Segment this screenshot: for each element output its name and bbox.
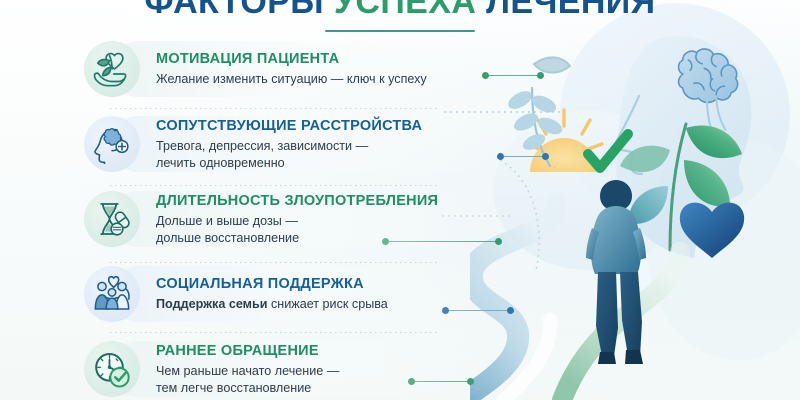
row-texts: СОПУТСТВУЮЩИЕ РАССТРОЙСТВА Тревога, депр…	[156, 117, 422, 171]
factor-subtitle-bold: лечить одновременно	[156, 155, 422, 172]
factors-list: МОТИВАЦИЯ ПАЦИЕНТА Желание изменить ситу…	[84, 38, 504, 400]
row-texts: РАННЕЕ ОБРАЩЕНИЕ Чем раньше начато лечен…	[156, 342, 339, 396]
factor-subtitle: Поддержка семьи снижает риск срыва	[156, 296, 388, 313]
title-underline	[325, 30, 475, 32]
row-texts: ДЛИТЕЛЬНОСТЬ ЗЛОУПОТРЕБЛЕНИЯ Дольше и вы…	[156, 192, 438, 246]
title-word-2: УСПЕХА	[334, 0, 476, 21]
factor-row-motivation[interactable]: МОТИВАЦИЯ ПАЦИЕНТА Желание изменить ситу…	[84, 38, 504, 100]
row-texts: СОЦИАЛЬНАЯ ПОДДЕРЖКА Поддержка семьи сни…	[156, 275, 388, 313]
factor-subtitle-text: Желание изменить ситуацию — ключ к успех…	[156, 72, 427, 86]
factor-subtitle: Желание изменить ситуацию — ключ к успех…	[156, 71, 427, 88]
hourglass-pills-icon	[84, 191, 140, 247]
title-word-1: ФАКТОРЫ	[145, 0, 324, 21]
factor-subtitle: Дольше и выше дозы —	[156, 213, 438, 230]
factor-title: МОТИВАЦИЯ ПАЦИЕНТА	[156, 50, 427, 68]
factor-subtitle: Чем раньше начато лечение —	[156, 363, 339, 380]
factor-title: РАННЕЕ ОБРАЩЕНИЕ	[156, 342, 339, 360]
connector-dot	[542, 153, 549, 160]
head-brain-medical-cross-icon	[84, 116, 140, 172]
factor-subtitle-bold: тем легче восстановление	[156, 380, 339, 397]
illustration	[470, 0, 800, 400]
connector-dot	[507, 307, 514, 314]
factor-subtitle-bold: Поддержка семьи	[156, 297, 267, 311]
factor-row-early-treatment[interactable]: РАННЕЕ ОБРАЩЕНИЕ Чем раньше начато лечен…	[84, 338, 504, 400]
factor-row-social-support[interactable]: СОЦИАЛЬНАЯ ПОДДЕРЖКА Поддержка семьи сни…	[84, 263, 504, 325]
factor-row-comorbid[interactable]: СОПУТСТВУЮЩИЕ РАССТРОЙСТВА Тревога, депр…	[84, 113, 504, 175]
title-word-3: ЛЕЧЕНИЯ	[486, 0, 655, 21]
infographic-canvas: ФАКТОРЫ УСПЕХА ЛЕЧЕНИЯ	[0, 0, 800, 400]
connector-line-2	[497, 153, 549, 160]
factor-title: СОЦИАЛЬНАЯ ПОДДЕРЖКА	[156, 275, 388, 293]
page-title: ФАКТОРЫ УСПЕХА ЛЕЧЕНИЯ	[0, 0, 800, 32]
family-heart-icon	[84, 266, 140, 322]
factor-title: ДЛИТЕЛЬНОСТЬ ЗЛОУПОТРЕБЛЕНИЯ	[156, 192, 438, 210]
factor-subtitle: Тревога, депрессия, зависимости —	[156, 138, 422, 155]
connector-dot	[537, 72, 544, 79]
factor-title: СОПУТСТВУЮЩИЕ РАССТРОЙСТВА	[156, 117, 422, 135]
row-texts: МОТИВАЦИЯ ПАЦИЕНТА Желание изменить ситу…	[156, 50, 427, 88]
factor-subtitle-text: снижает риск срыва	[267, 297, 387, 311]
hand-holding-plant-heart-icon	[84, 41, 140, 97]
factor-row-duration[interactable]: ДЛИТЕЛЬНОСТЬ ЗЛОУПОТРЕБЛЕНИЯ Дольше и вы…	[84, 188, 504, 250]
connector-bar	[504, 156, 542, 158]
clock-checkmark-icon	[84, 341, 140, 397]
factor-subtitle-bold: дольше восстановление	[156, 230, 438, 247]
